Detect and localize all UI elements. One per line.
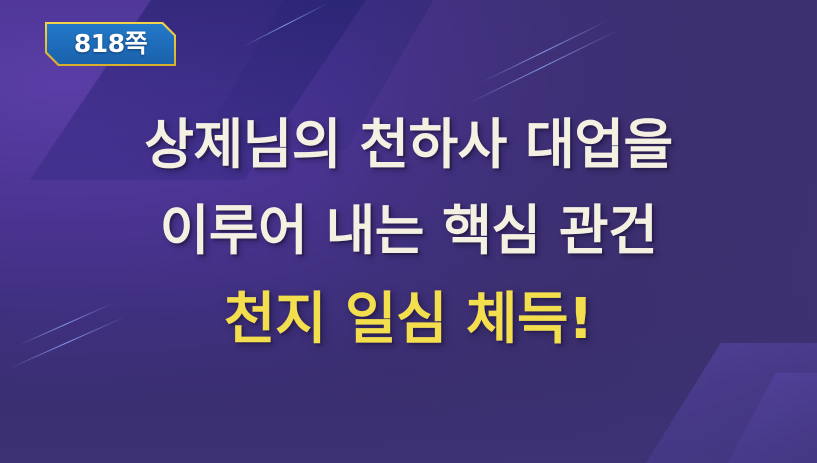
headline-line-2: 이루어 내는 핵심 관건 xyxy=(0,204,817,258)
headline-line-3-highlight: 천지 일심 체득! xyxy=(0,292,817,348)
headline-line-1: 상제님의 천하사 대업을 xyxy=(0,118,817,172)
headline-block: 상제님의 천하사 대업을 이루어 내는 핵심 관건 천지 일심 체득! xyxy=(0,118,817,348)
page-number-badge-inner: 818쪽 xyxy=(47,24,174,64)
slide-root: 818쪽 상제님의 천하사 대업을 이루어 내는 핵심 관건 천지 일심 체득! xyxy=(0,0,817,463)
page-number-label: 818쪽 xyxy=(74,31,147,56)
page-number-badge: 818쪽 xyxy=(45,22,176,66)
